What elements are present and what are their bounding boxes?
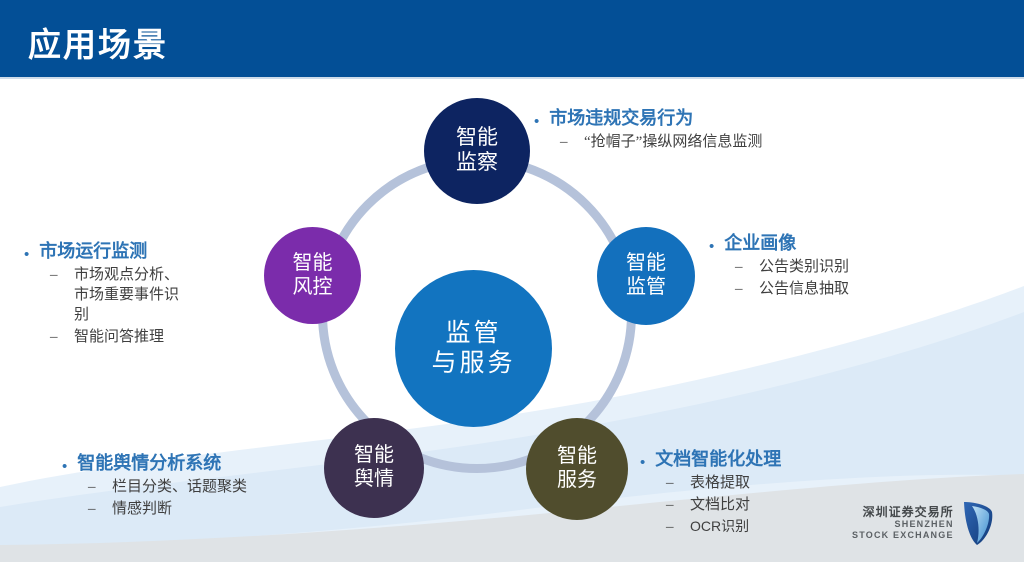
szse-shield-icon (960, 500, 996, 546)
logo-english-line1: SHENZHEN (852, 519, 954, 530)
dash-glyph: – (666, 473, 680, 493)
node-right-line1: 智能 (626, 252, 666, 276)
node-br-line2: 服务 (557, 469, 597, 493)
callout-sub-item: – “抢帽子”操纵网络信息监测 (560, 132, 762, 152)
node-right-line2: 监管 (626, 276, 666, 300)
dash-glyph: – (88, 477, 102, 497)
header-divider (0, 77, 1024, 79)
bullet-glyph: • (709, 239, 714, 254)
dash-glyph: – (88, 499, 102, 519)
dash-glyph: – (666, 517, 680, 537)
node-intelligent-service[interactable]: 智能 服务 (526, 418, 628, 520)
dash-glyph: – (560, 132, 574, 152)
callout-document-intelligence: • 文档智能化处理 – 表格提取 – 文档比对 – OCR识别 (640, 448, 781, 537)
callout-sub-text: 智能问答推理 (74, 327, 164, 347)
node-bl-line1: 智能 (354, 444, 394, 468)
callout-sub-text: 市场观点分析、市场重要事件识别 (74, 265, 190, 326)
node-left-line1: 智能 (293, 252, 333, 276)
logo-chinese-name: 深圳证券交易所 (852, 505, 954, 519)
node-bl-line2: 舆情 (354, 468, 394, 492)
callout-sub-item: – 表格提取 (666, 473, 781, 493)
callout-heading: 文档智能化处理 (655, 448, 781, 471)
dash-glyph: – (666, 495, 680, 515)
callout-sub-item: – OCR识别 (666, 517, 781, 537)
callout-sub-text: OCR识别 (690, 517, 749, 536)
callout-public-opinion-system: • 智能舆情分析系统 – 栏目分类、话题聚类 – 情感判断 (62, 452, 247, 519)
callout-sub-item: – 文档比对 (666, 495, 781, 515)
callout-sub-item: – 公告类别识别 (735, 257, 849, 277)
bullet-glyph: • (62, 459, 67, 474)
dash-glyph: – (735, 257, 749, 277)
slide-canvas: 应用场景 监管 与服务 智能 监察 智能 监管 智能 服务 智能 舆情 智能 风… (0, 0, 1024, 562)
node-center-supervision-service[interactable]: 监管 与服务 (395, 270, 552, 427)
callout-heading: 市场运行监测 (39, 240, 147, 263)
dash-glyph: – (50, 327, 64, 347)
callout-sub-text: 表格提取 (690, 473, 750, 493)
callout-sub-text: 情感判断 (112, 499, 172, 519)
callout-sub-text: 栏目分类、话题聚类 (112, 477, 247, 497)
bullet-glyph: • (24, 247, 29, 262)
callout-sub-text: 公告信息抽取 (759, 279, 849, 299)
callout-sub-text: “抢帽子”操纵网络信息监测 (584, 132, 762, 152)
callout-sub-item: – 市场观点分析、市场重要事件识别 (50, 265, 190, 326)
callout-heading: 市场违规交易行为 (549, 107, 693, 130)
callout-sub-item: – 公告信息抽取 (735, 279, 849, 299)
logo-text-block: 深圳证券交易所 SHENZHEN STOCK EXCHANGE (852, 505, 954, 542)
callout-sub-text: 文档比对 (690, 495, 750, 515)
node-br-line1: 智能 (557, 445, 597, 469)
node-intelligent-inspection[interactable]: 智能 监察 (424, 98, 530, 204)
callout-market-operation-monitoring: • 市场运行监测 – 市场观点分析、市场重要事件识别 – 智能问答推理 (24, 240, 190, 348)
node-intelligent-public-opinion[interactable]: 智能 舆情 (324, 418, 424, 518)
dash-glyph: – (735, 279, 749, 299)
node-left-line2: 风控 (293, 276, 333, 300)
bullet-glyph: • (534, 114, 539, 129)
callout-market-violation: • 市场违规交易行为 – “抢帽子”操纵网络信息监测 (534, 107, 762, 152)
callout-sub-text: 公告类别识别 (759, 257, 849, 277)
node-intelligent-supervision[interactable]: 智能 监管 (597, 227, 695, 325)
callout-sub-item: – 情感判断 (88, 499, 247, 519)
bullet-glyph: • (640, 455, 645, 470)
callout-heading: 智能舆情分析系统 (77, 452, 221, 475)
node-intelligent-risk-control[interactable]: 智能 风控 (264, 227, 361, 324)
callout-sub-item: – 栏目分类、话题聚类 (88, 477, 247, 497)
dash-glyph: – (50, 265, 64, 285)
node-center-line2: 与服务 (431, 349, 515, 379)
node-center-line1: 监管 (445, 319, 501, 349)
callout-sub-item: – 智能问答推理 (50, 327, 190, 347)
page-title: 应用场景 (28, 18, 168, 66)
node-top-line2: 监察 (456, 151, 498, 176)
node-top-line1: 智能 (456, 126, 498, 151)
logo-english-line2: STOCK EXCHANGE (852, 530, 954, 541)
callout-enterprise-profile: • 企业画像 – 公告类别识别 – 公告信息抽取 (709, 232, 849, 299)
szse-logo: 深圳证券交易所 SHENZHEN STOCK EXCHANGE (852, 500, 996, 546)
callout-heading: 企业画像 (724, 232, 796, 255)
